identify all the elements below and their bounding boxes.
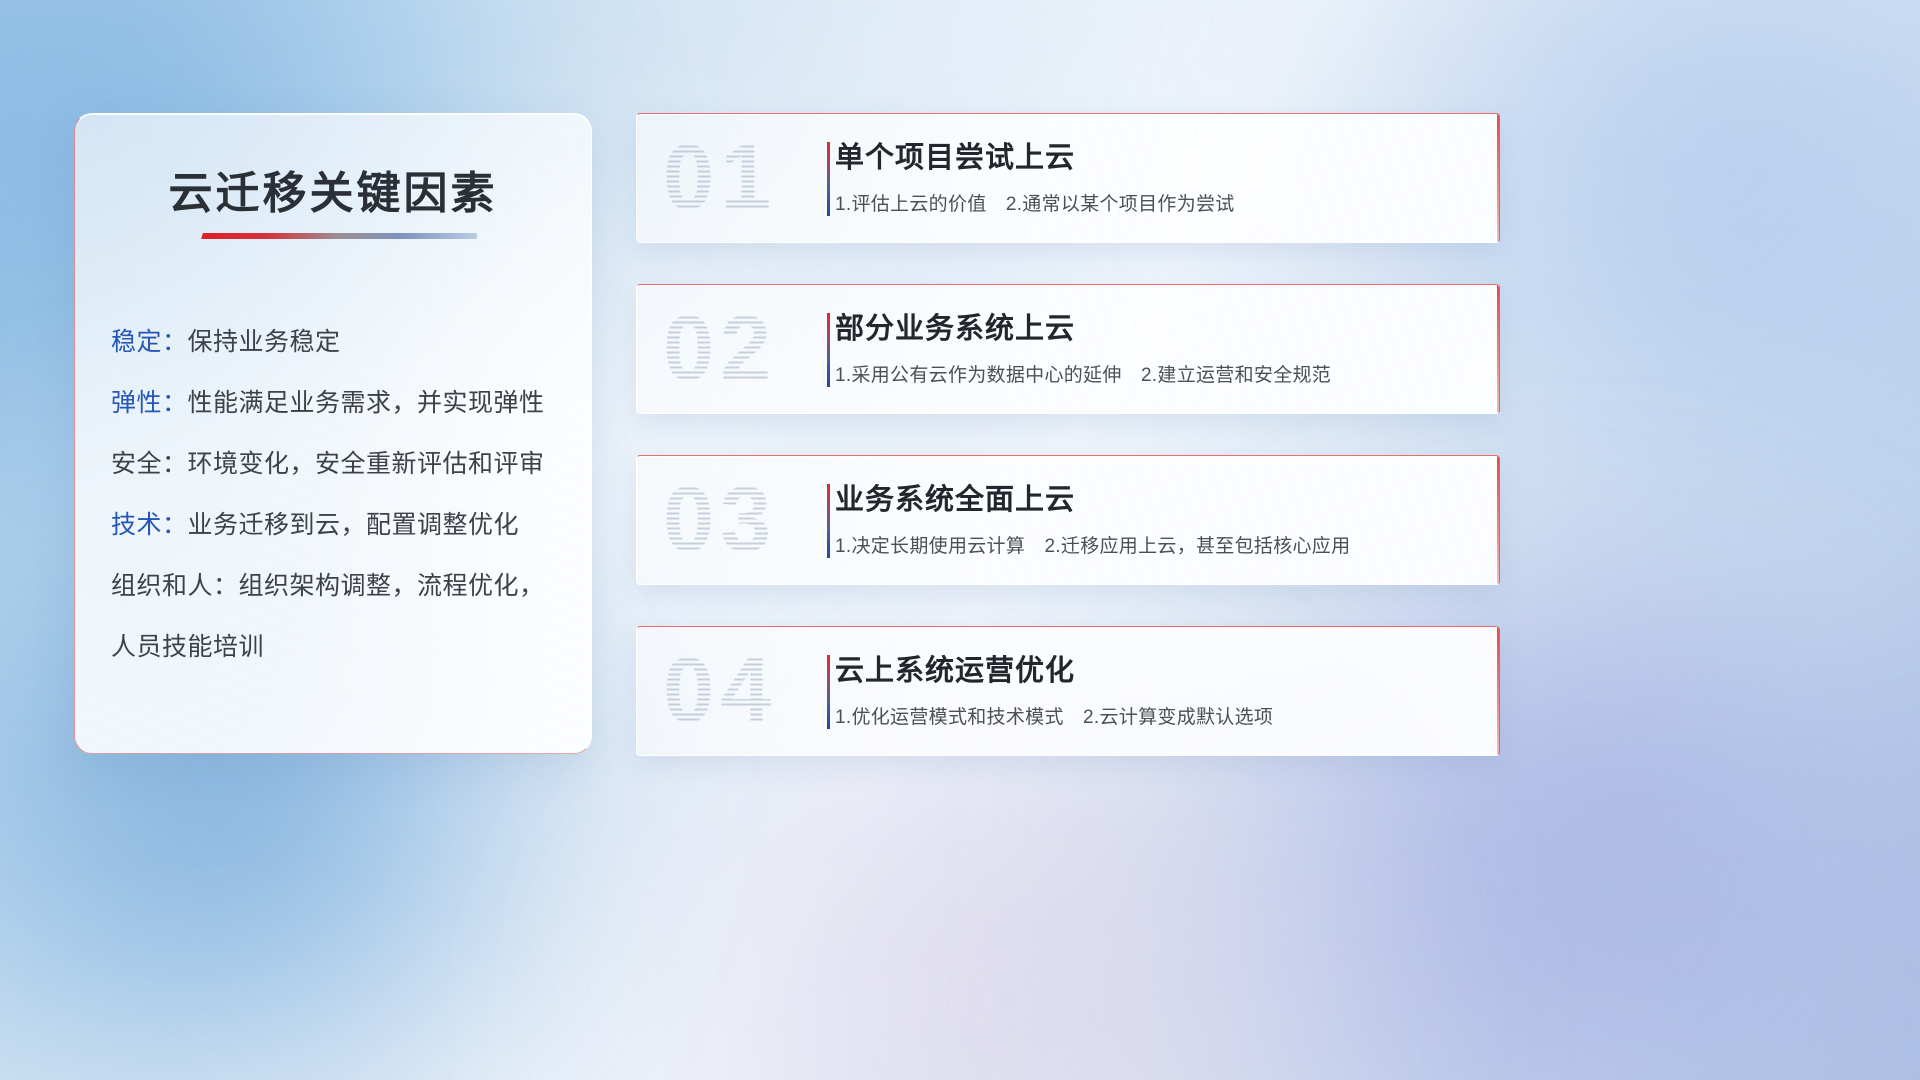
list-item-label: 组织和人： xyxy=(111,572,239,600)
stage-card-subtitle: 1.决定长期使用云计算 2.迁移应用上云，甚至包括核心应用 xyxy=(835,531,1475,558)
list-item: 稳定：保持业务稳定 xyxy=(111,312,569,373)
key-factors-list: 稳定：保持业务稳定 弹性：性能满足业务需求，并实现弹性 安全：环境变化，安全重新… xyxy=(111,312,569,678)
stage-card-body: 单个项目尝试上云 1.评估上云的价值 2.通常以某个项目作为尝试 xyxy=(835,140,1475,216)
stage-card-divider xyxy=(827,313,830,387)
stage-card-body: 部分业务系统上云 1.采用公有云作为数据中心的延伸 2.建立运营和安全规范 xyxy=(835,311,1475,387)
key-factors-panel: 云迁移关键因素 稳定：保持业务稳定 弹性：性能满足业务需求，并实现弹性 安全：环… xyxy=(74,113,592,754)
list-item-label: 弹性： xyxy=(111,389,188,417)
list-item: 技术：业务迁移到云，配置调整优化 xyxy=(111,495,569,556)
stage-number-03: 03 xyxy=(663,468,777,573)
stage-number-01: 01 xyxy=(663,126,777,231)
list-item-label: 安全： xyxy=(111,450,188,478)
list-item: 安全：环境变化，安全重新评估和评审 xyxy=(111,434,569,495)
list-item: 组织和人：组织架构调整，流程优化， xyxy=(111,556,569,617)
stage-card-title: 部分业务系统上云 xyxy=(835,311,1475,347)
stage-card-divider xyxy=(827,142,830,216)
list-item-text: 组织架构调整，流程优化， xyxy=(239,572,545,600)
list-item-text: 人员技能培训 xyxy=(111,633,264,661)
title-underline-rule xyxy=(201,233,477,239)
stage-card-title: 业务系统全面上云 xyxy=(835,482,1475,518)
page-title: 云迁移关键因素 xyxy=(75,157,591,221)
stage-card[interactable]: 03 业务系统全面上云 1.决定长期使用云计算 2.迁移应用上云，甚至包括核心应… xyxy=(636,455,1500,585)
stage-cards-list: 01 单个项目尝试上云 1.评估上云的价值 2.通常以某个项目作为尝试 02 部… xyxy=(636,113,1500,797)
stage-card-divider xyxy=(827,655,830,729)
stage-card-title: 云上系统运营优化 xyxy=(835,653,1475,689)
stage-number-02: 02 xyxy=(663,297,777,402)
stage-card[interactable]: 02 部分业务系统上云 1.采用公有云作为数据中心的延伸 2.建立运营和安全规范 xyxy=(636,284,1500,414)
stage-card[interactable]: 04 云上系统运营优化 1.优化运营模式和技术模式 2.云计算变成默认选项 xyxy=(636,626,1500,756)
stage-card-title: 单个项目尝试上云 xyxy=(835,140,1475,176)
list-item-text: 性能满足业务需求，并实现弹性 xyxy=(188,389,545,417)
list-item-text: 保持业务稳定 xyxy=(188,328,341,356)
stage-card-body: 业务系统全面上云 1.决定长期使用云计算 2.迁移应用上云，甚至包括核心应用 xyxy=(835,482,1475,558)
stage-card[interactable]: 01 单个项目尝试上云 1.评估上云的价值 2.通常以某个项目作为尝试 xyxy=(636,113,1500,243)
stage-card-body: 云上系统运营优化 1.优化运营模式和技术模式 2.云计算变成默认选项 xyxy=(835,653,1475,729)
list-item-label: 技术： xyxy=(111,511,188,539)
list-item-text: 业务迁移到云，配置调整优化 xyxy=(188,511,520,539)
slide-content: 云迁移关键因素 稳定：保持业务稳定 弹性：性能满足业务需求，并实现弹性 安全：环… xyxy=(0,0,1920,1080)
stage-card-subtitle: 1.优化运营模式和技术模式 2.云计算变成默认选项 xyxy=(835,702,1475,729)
stage-card-subtitle: 1.评估上云的价值 2.通常以某个项目作为尝试 xyxy=(835,189,1475,216)
list-item-text: 环境变化，安全重新评估和评审 xyxy=(188,450,545,478)
stage-card-divider xyxy=(827,484,830,558)
list-item-label: 稳定： xyxy=(111,328,188,356)
stage-number-04: 04 xyxy=(663,639,777,744)
list-item: 人员技能培训 xyxy=(111,617,569,678)
stage-card-subtitle: 1.采用公有云作为数据中心的延伸 2.建立运营和安全规范 xyxy=(835,360,1475,387)
list-item: 弹性：性能满足业务需求，并实现弹性 xyxy=(111,373,569,434)
